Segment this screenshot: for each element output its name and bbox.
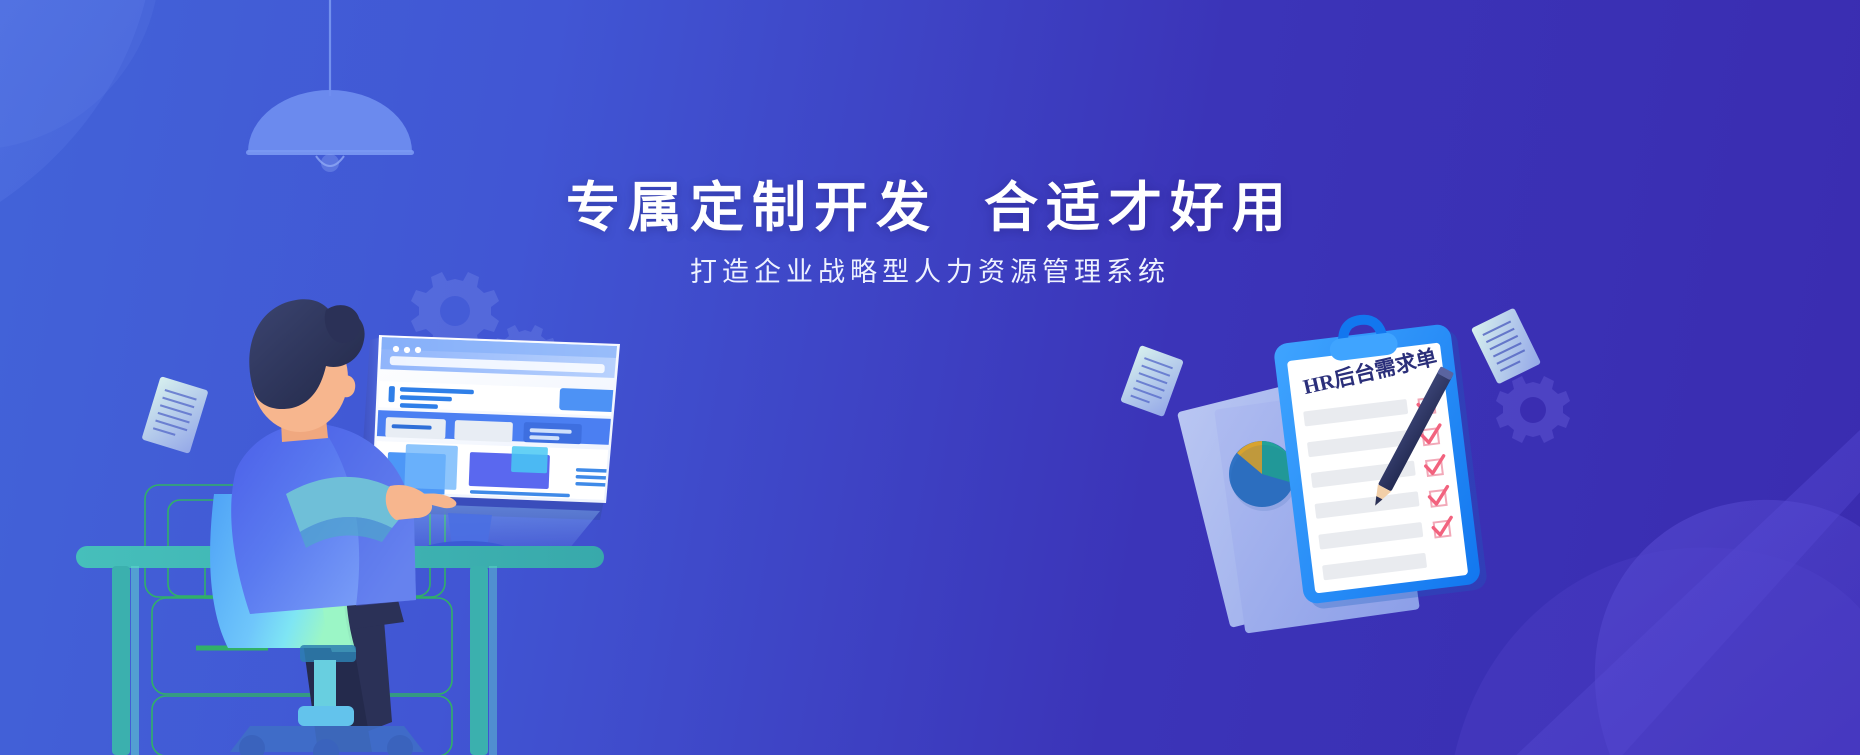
clipboard — [1271, 309, 1488, 611]
hero-banner: HR后台需求单 专属定制开发 合适才好用 打造企业战略型人力资源管理系统 — [0, 0, 1860, 755]
clipboard-illustration: HR后台需求单 — [0, 0, 1860, 755]
